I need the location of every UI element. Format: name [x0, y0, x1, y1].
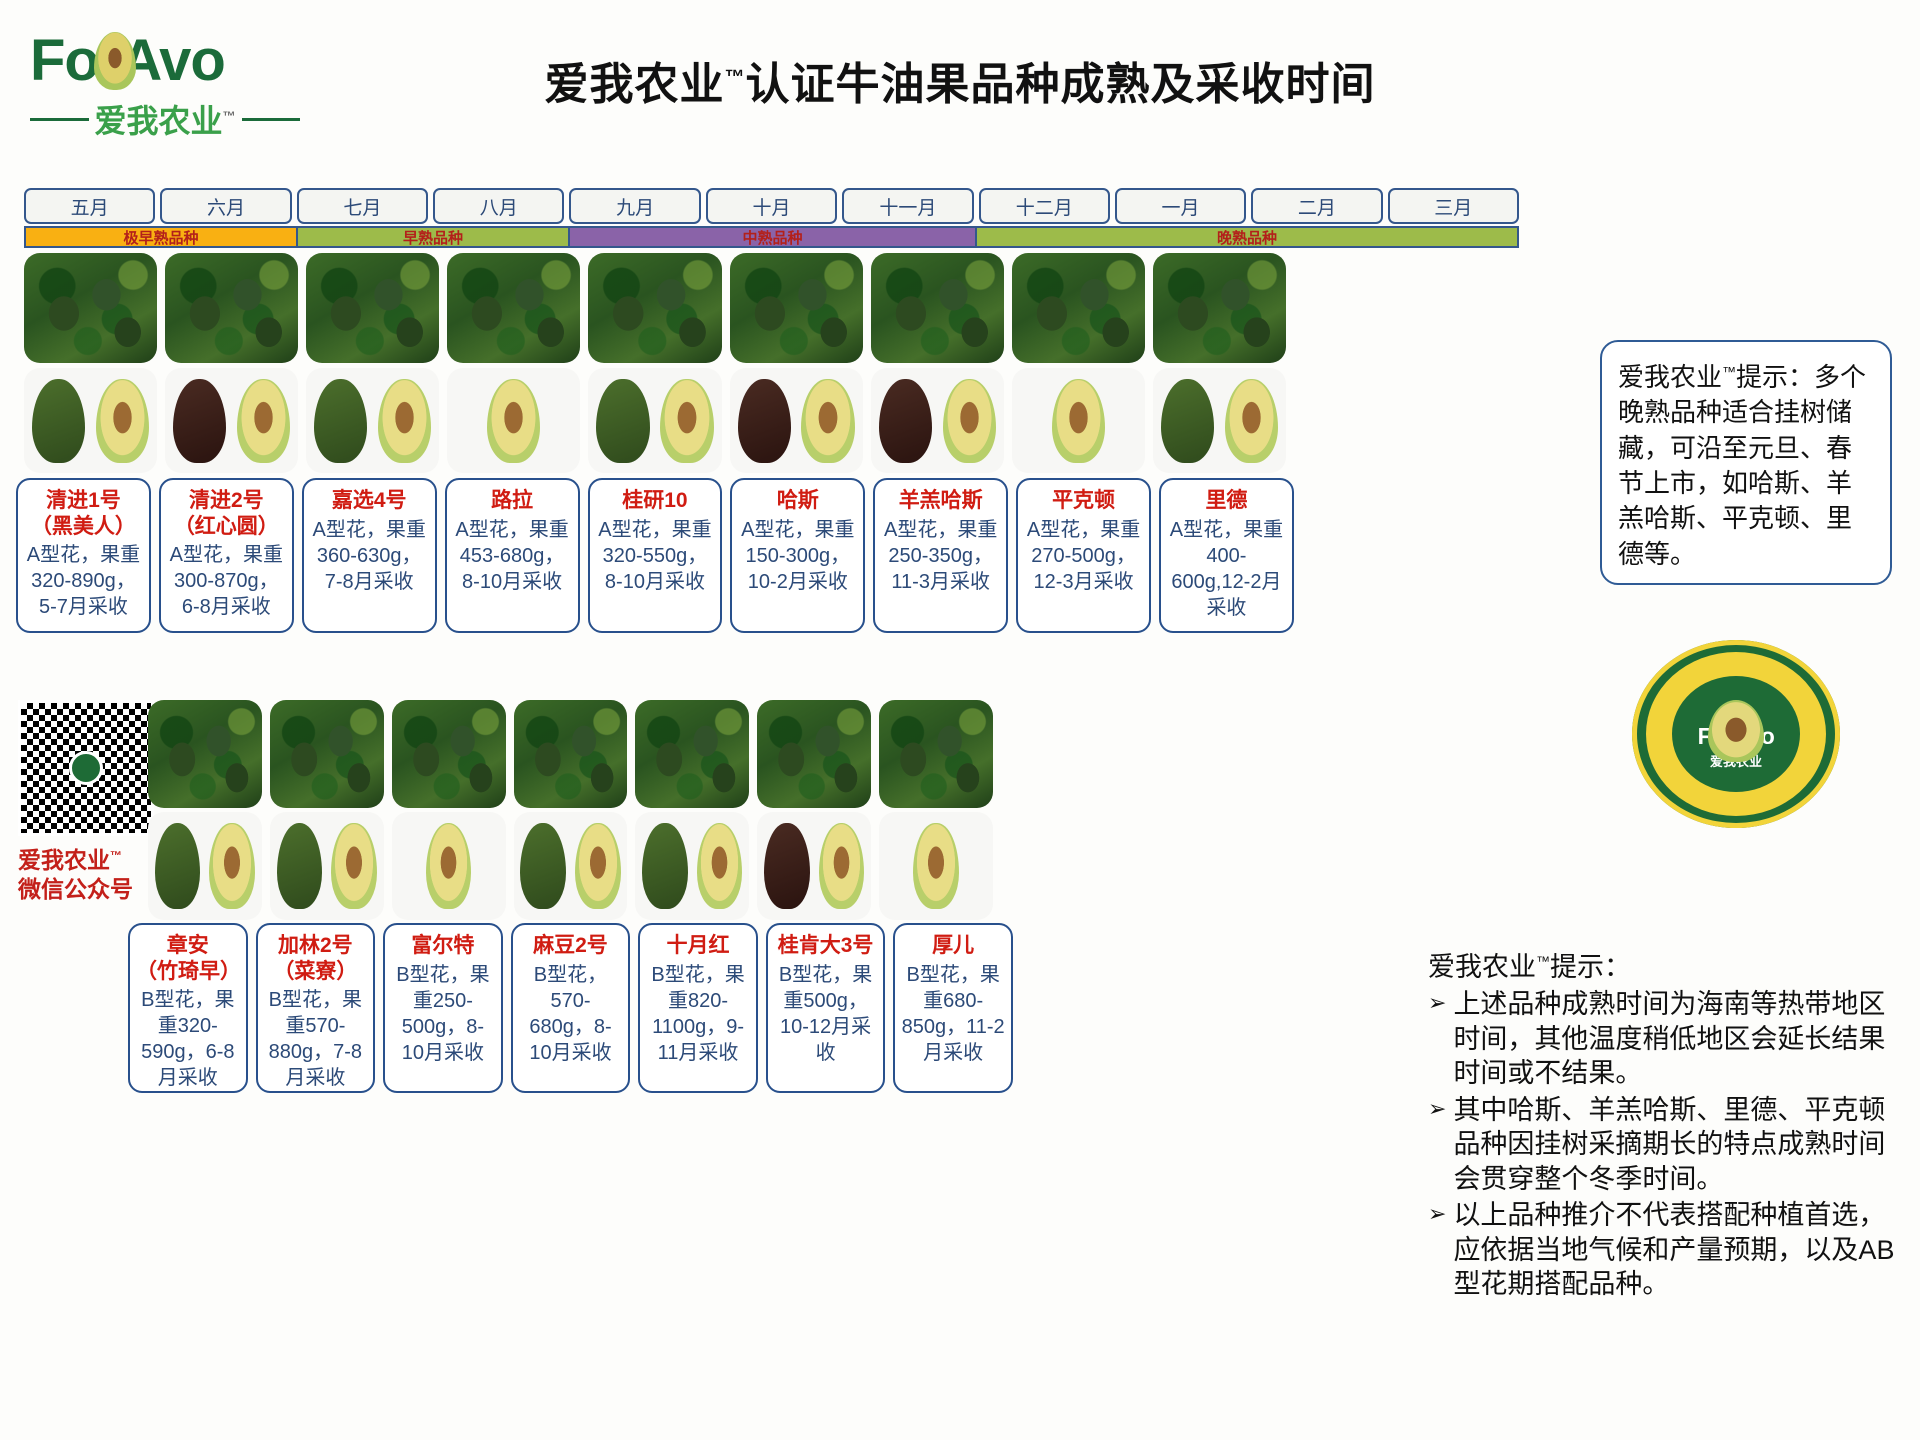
- variety-card-description: A型花，果重320-550g，8-10月采收: [596, 517, 715, 595]
- bullet-arrow-icon: ➢: [1428, 987, 1446, 1091]
- month-cell: 二月: [1251, 188, 1382, 224]
- page-title: 爱我农业™认证牛油果品种成熟及采收时间: [300, 48, 1620, 112]
- month-cell: 十月: [706, 188, 837, 224]
- variety-card[interactable]: 桂肯大3号B型花，果重500g，10-12月采收: [766, 923, 886, 1093]
- variety-card-description: A型花，果重300-870g，6-8月采收: [167, 542, 286, 620]
- variety-card[interactable]: 哈斯A型花，果重150-300g，10-2月采收: [730, 478, 865, 633]
- tree-photo-8: [1012, 253, 1145, 363]
- month-label: 一月: [1162, 193, 1200, 220]
- logo-rule-right: [242, 118, 301, 121]
- fruit-photo-1: [24, 368, 157, 473]
- tree-photo-4: [447, 253, 580, 363]
- variety-card-description: B型花，570-680g，8-10月采收: [519, 962, 623, 1066]
- brand-logo: ForAvo 爱我农业™: [30, 30, 300, 145]
- footer-notes-list: ➢上述品种成熟时间为海南等热带地区时间，其他温度稍低地区会延长结果时间或不结果。…: [1428, 987, 1906, 1302]
- footer-note-item: ➢以上品种推介不代表搭配种植首选，应依据当地气候和产量预期，以及AB型花期搭配品…: [1428, 1198, 1906, 1302]
- infographic-page: ForAvo 爱我农业™ 爱我农业™认证牛油果品种成熟及采收时间 五月六月七月八…: [0, 0, 1920, 1440]
- variety-card-description: A型花，果重270-500g，12-3月采收: [1024, 517, 1143, 595]
- month-cell: 六月: [160, 188, 291, 224]
- footer-notes-title: 爱我农业™提示：: [1428, 950, 1906, 985]
- month-label: 三月: [1434, 193, 1472, 220]
- trademark-mark: ™: [110, 848, 122, 862]
- footer-notes-title-suffix: 提示：: [1550, 952, 1631, 982]
- variety-card-alias: （菜寮）: [264, 959, 368, 985]
- maturity-band: 极早熟品种: [26, 228, 298, 246]
- tree-photo-10: [148, 700, 262, 808]
- fruit-photo-9: [1153, 368, 1286, 473]
- tree-photo-3: [306, 253, 439, 363]
- fruit-photo-15: [757, 812, 871, 920]
- month-cell: 五月: [24, 188, 155, 224]
- qr-center-logo: [69, 751, 103, 785]
- tree-photo-1: [24, 253, 157, 363]
- variety-card-name: 章安: [136, 933, 240, 959]
- row-b-tree-photo-strip: [148, 700, 993, 808]
- variety-card[interactable]: 路拉A型花，果重453-680g，8-10月采收: [445, 478, 580, 633]
- trademark-mark: ™: [1536, 953, 1550, 969]
- variety-card-description: B型花，果重820-1100g，9-11月采收: [646, 962, 750, 1066]
- footer-note-text: 上述品种成熟时间为海南等热带地区时间，其他温度稍低地区会延长结果时间或不结果。: [1453, 987, 1906, 1091]
- month-cell: 九月: [569, 188, 700, 224]
- variety-card[interactable]: 十月红B型花，果重820-1100g，9-11月采收: [638, 923, 758, 1093]
- tip-box-brand: 爱我农业: [1618, 362, 1722, 392]
- tree-photo-5: [588, 253, 721, 363]
- trademark-mark: ™: [223, 108, 236, 123]
- month-cell: 三月: [1388, 188, 1519, 224]
- bullet-arrow-icon: ➢: [1428, 1198, 1446, 1302]
- month-label: 九月: [616, 193, 654, 220]
- variety-card[interactable]: 厚儿B型花，果重680-850g，11-2月采收: [893, 923, 1013, 1093]
- row-a-variety-card-row: 清进1号（黑美人）A型花，果重320-890g，5-7月采收清进2号（红心圆）A…: [16, 478, 1294, 633]
- variety-card-description: B型花，果重250-500g，8-10月采收: [391, 962, 495, 1066]
- variety-card-alias: （红心圆）: [167, 514, 286, 540]
- seal-gold-ring: ForAvo 爱我农业: [1646, 652, 1826, 816]
- variety-card-name: 哈斯: [738, 488, 857, 514]
- footer-note-text: 其中哈斯、羊羔哈斯、里德、平克顿品种因挂树采摘期长的特点成熟时间会贯穿整个冬季时…: [1453, 1093, 1906, 1197]
- maturity-band: 早熟品种: [298, 228, 570, 246]
- variety-card[interactable]: 章安（竹琦早）B型花，果重320-590g，6-8月采收: [128, 923, 248, 1093]
- month-label: 六月: [207, 193, 245, 220]
- month-cell: 一月: [1115, 188, 1246, 224]
- maturity-band-label: 晚熟品种: [1217, 227, 1277, 248]
- variety-card-description: A型花，果重453-680g，8-10月采收: [453, 517, 572, 595]
- month-cell: 十一月: [842, 188, 973, 224]
- variety-card[interactable]: 里德A型花，果重400-600g,12-2月采收: [1159, 478, 1294, 633]
- variety-card-name: 富尔特: [391, 933, 495, 959]
- variety-card-name: 桂肯大3号: [774, 933, 878, 959]
- fruit-photo-13: [514, 812, 628, 920]
- fruit-photo-10: [148, 812, 262, 920]
- month-cell: 七月: [297, 188, 428, 224]
- qr-caption-suffix: 微信公众号: [18, 876, 133, 902]
- month-label: 二月: [1298, 193, 1336, 220]
- tree-photo-9: [1153, 253, 1286, 363]
- footer-note-item: ➢其中哈斯、羊羔哈斯、里德、平克顿品种因挂树采摘期长的特点成熟时间会贯穿整个冬季…: [1428, 1093, 1906, 1197]
- fruit-photo-14: [635, 812, 749, 920]
- maturity-band: 中熟品种: [570, 228, 977, 246]
- variety-card-alias: （竹琦早）: [136, 959, 240, 985]
- variety-card-description: A型花，果重400-600g,12-2月采收: [1167, 517, 1286, 621]
- brand-logo-wordmark: ForAvo: [30, 30, 300, 92]
- tree-photo-6: [730, 253, 863, 363]
- variety-card-name: 里德: [1167, 488, 1286, 514]
- fruit-photo-6: [730, 368, 863, 473]
- maturity-band-row: 极早熟品种早熟品种中熟品种晚熟品种: [24, 226, 1519, 248]
- variety-card-name: 十月红: [646, 933, 750, 959]
- variety-card-description: A型花，果重320-890g，5-7月采收: [24, 542, 143, 620]
- tip-box-late-varieties: 爱我农业™提示：多个晚熟品种适合挂树储藏，可沿至元旦、春节上市，如哈斯、羊羔哈斯…: [1600, 340, 1892, 585]
- fruit-photo-3: [306, 368, 439, 473]
- tree-photo-13: [514, 700, 628, 808]
- trademark-mark: ™: [1722, 363, 1736, 379]
- variety-card[interactable]: 清进2号（红心圆）A型花，果重300-870g，6-8月采收: [159, 478, 294, 633]
- variety-card-name: 羊羔哈斯: [881, 488, 1000, 514]
- page-title-brand: 爱我农业: [545, 60, 725, 109]
- footer-note-text: 以上品种推介不代表搭配种植首选，应依据当地气候和产量预期，以及AB型花期搭配品种…: [1453, 1198, 1906, 1302]
- fruit-photo-12: [392, 812, 506, 920]
- row-b-variety-card-row: 章安（竹琦早）B型花，果重320-590g，6-8月采收加林2号（菜寮）B型花，…: [128, 923, 1013, 1093]
- wechat-qr-block: 爱我农业™ 微信公众号: [18, 700, 154, 903]
- row-b-fruit-photo-strip: [148, 812, 993, 920]
- brand-logo-chinese-text: 爱我农业™: [95, 96, 236, 142]
- month-label: 十月: [752, 193, 790, 220]
- fruit-photo-11: [270, 812, 384, 920]
- page-header: ForAvo 爱我农业™ 爱我农业™认证牛油果品种成熟及采收时间: [0, 0, 1920, 170]
- variety-card[interactable]: 平克顿A型花，果重270-500g，12-3月采收: [1016, 478, 1151, 633]
- tree-photo-2: [165, 253, 298, 363]
- footer-notes-brand: 爱我农业: [1428, 952, 1536, 982]
- tree-photo-16: [879, 700, 993, 808]
- variety-card[interactable]: 麻豆2号B型花，570-680g，8-10月采收: [511, 923, 631, 1093]
- footer-note-item: ➢上述品种成熟时间为海南等热带地区时间，其他温度稍低地区会延长结果时间或不结果。: [1428, 987, 1906, 1091]
- variety-card-name: 加林2号: [264, 933, 368, 959]
- variety-card[interactable]: 嘉选4号A型花，果重360-630g，7-8月采收: [302, 478, 437, 633]
- variety-card-description: B型花，果重680-850g，11-2月采收: [901, 962, 1005, 1066]
- bullet-arrow-icon: ➢: [1428, 1093, 1446, 1197]
- variety-card[interactable]: 清进1号（黑美人）A型花，果重320-890g，5-7月采收: [16, 478, 151, 633]
- tree-photo-15: [757, 700, 871, 808]
- fruit-photo-5: [588, 368, 721, 473]
- trademark-mark: ™: [725, 66, 746, 88]
- variety-card-name: 路拉: [453, 488, 572, 514]
- month-label: 十一月: [879, 193, 936, 220]
- fruit-photo-4: [447, 368, 580, 473]
- row-a-tree-photo-strip: [24, 253, 1286, 363]
- fruit-photo-2: [165, 368, 298, 473]
- month-label: 十二月: [1016, 193, 1073, 220]
- qr-caption: 爱我农业™ 微信公众号: [18, 846, 154, 903]
- tree-photo-7: [871, 253, 1004, 363]
- page-title-rest: 认证牛油果品种成熟及采收时间: [746, 60, 1376, 109]
- maturity-band: 晚熟品种: [977, 228, 1517, 246]
- variety-card-name: 嘉选4号: [310, 488, 429, 514]
- tree-photo-11: [270, 700, 384, 808]
- row-a-fruit-photo-strip: [24, 368, 1286, 473]
- variety-card-name: 麻豆2号: [519, 933, 623, 959]
- month-header-row: 五月六月七月八月九月十月十一月十二月一月二月三月: [24, 188, 1519, 224]
- variety-card-name: 桂研10: [596, 488, 715, 514]
- fruit-photo-7: [871, 368, 1004, 473]
- variety-card[interactable]: 桂研10A型花，果重320-550g，8-10月采收: [588, 478, 723, 633]
- month-cell: 八月: [433, 188, 564, 224]
- tree-photo-12: [392, 700, 506, 808]
- variety-card-description: A型花，果重360-630g，7-8月采收: [310, 517, 429, 595]
- variety-card-alias: （黑美人）: [24, 514, 143, 540]
- variety-card-description: B型花，果重500g，10-12月采收: [774, 962, 878, 1066]
- tree-photo-14: [635, 700, 749, 808]
- variety-card-name: 清进2号: [167, 488, 286, 514]
- month-cell: 十二月: [979, 188, 1110, 224]
- tip-box-text: 提示：多个晚熟品种适合挂树储藏，可沿至元旦、春节上市，如哈斯、羊羔哈斯、平克顿、…: [1618, 362, 1866, 569]
- maturity-band-label: 极早熟品种: [123, 227, 198, 248]
- variety-card[interactable]: 羊羔哈斯A型花，果重250-350g，11-3月采收: [873, 478, 1008, 633]
- logo-rule-left: [30, 118, 89, 121]
- avocado-icon: [1708, 700, 1764, 762]
- variety-card-name: 厚儿: [901, 933, 1005, 959]
- variety-card-description: A型花，果重250-350g，11-3月采收: [881, 517, 1000, 595]
- qr-code-image[interactable]: [18, 700, 154, 836]
- month-label: 八月: [480, 193, 518, 220]
- fruit-photo-8: [1012, 368, 1145, 473]
- footer-notes: 爱我农业™提示： ➢上述品种成熟时间为海南等热带地区时间，其他温度稍低地区会延长…: [1428, 950, 1906, 1302]
- brand-logo-chinese: 爱我农业™: [30, 96, 300, 142]
- qr-caption-brand: 爱我农业: [18, 847, 110, 873]
- month-label: 七月: [343, 193, 381, 220]
- month-label: 五月: [71, 193, 109, 220]
- variety-card-name: 清进1号: [24, 488, 143, 514]
- variety-card-name: 平克顿: [1024, 488, 1143, 514]
- fruit-photo-16: [879, 812, 993, 920]
- variety-card-description: B型花，果重320-590g，6-8月采收: [136, 987, 240, 1091]
- variety-card[interactable]: 加林2号（菜寮）B型花，果重570-880g，7-8月采收: [256, 923, 376, 1093]
- certification-seal: ForAvo 爱我农业: [1632, 640, 1840, 828]
- maturity-band-label: 早熟品种: [403, 227, 463, 248]
- variety-card[interactable]: 富尔特B型花，果重250-500g，8-10月采收: [383, 923, 503, 1093]
- seal-core: ForAvo 爱我农业: [1672, 676, 1800, 792]
- variety-card-description: B型花，果重570-880g，7-8月采收: [264, 987, 368, 1091]
- variety-card-description: A型花，果重150-300g，10-2月采收: [738, 517, 857, 595]
- maturity-band-label: 中熟品种: [742, 227, 802, 248]
